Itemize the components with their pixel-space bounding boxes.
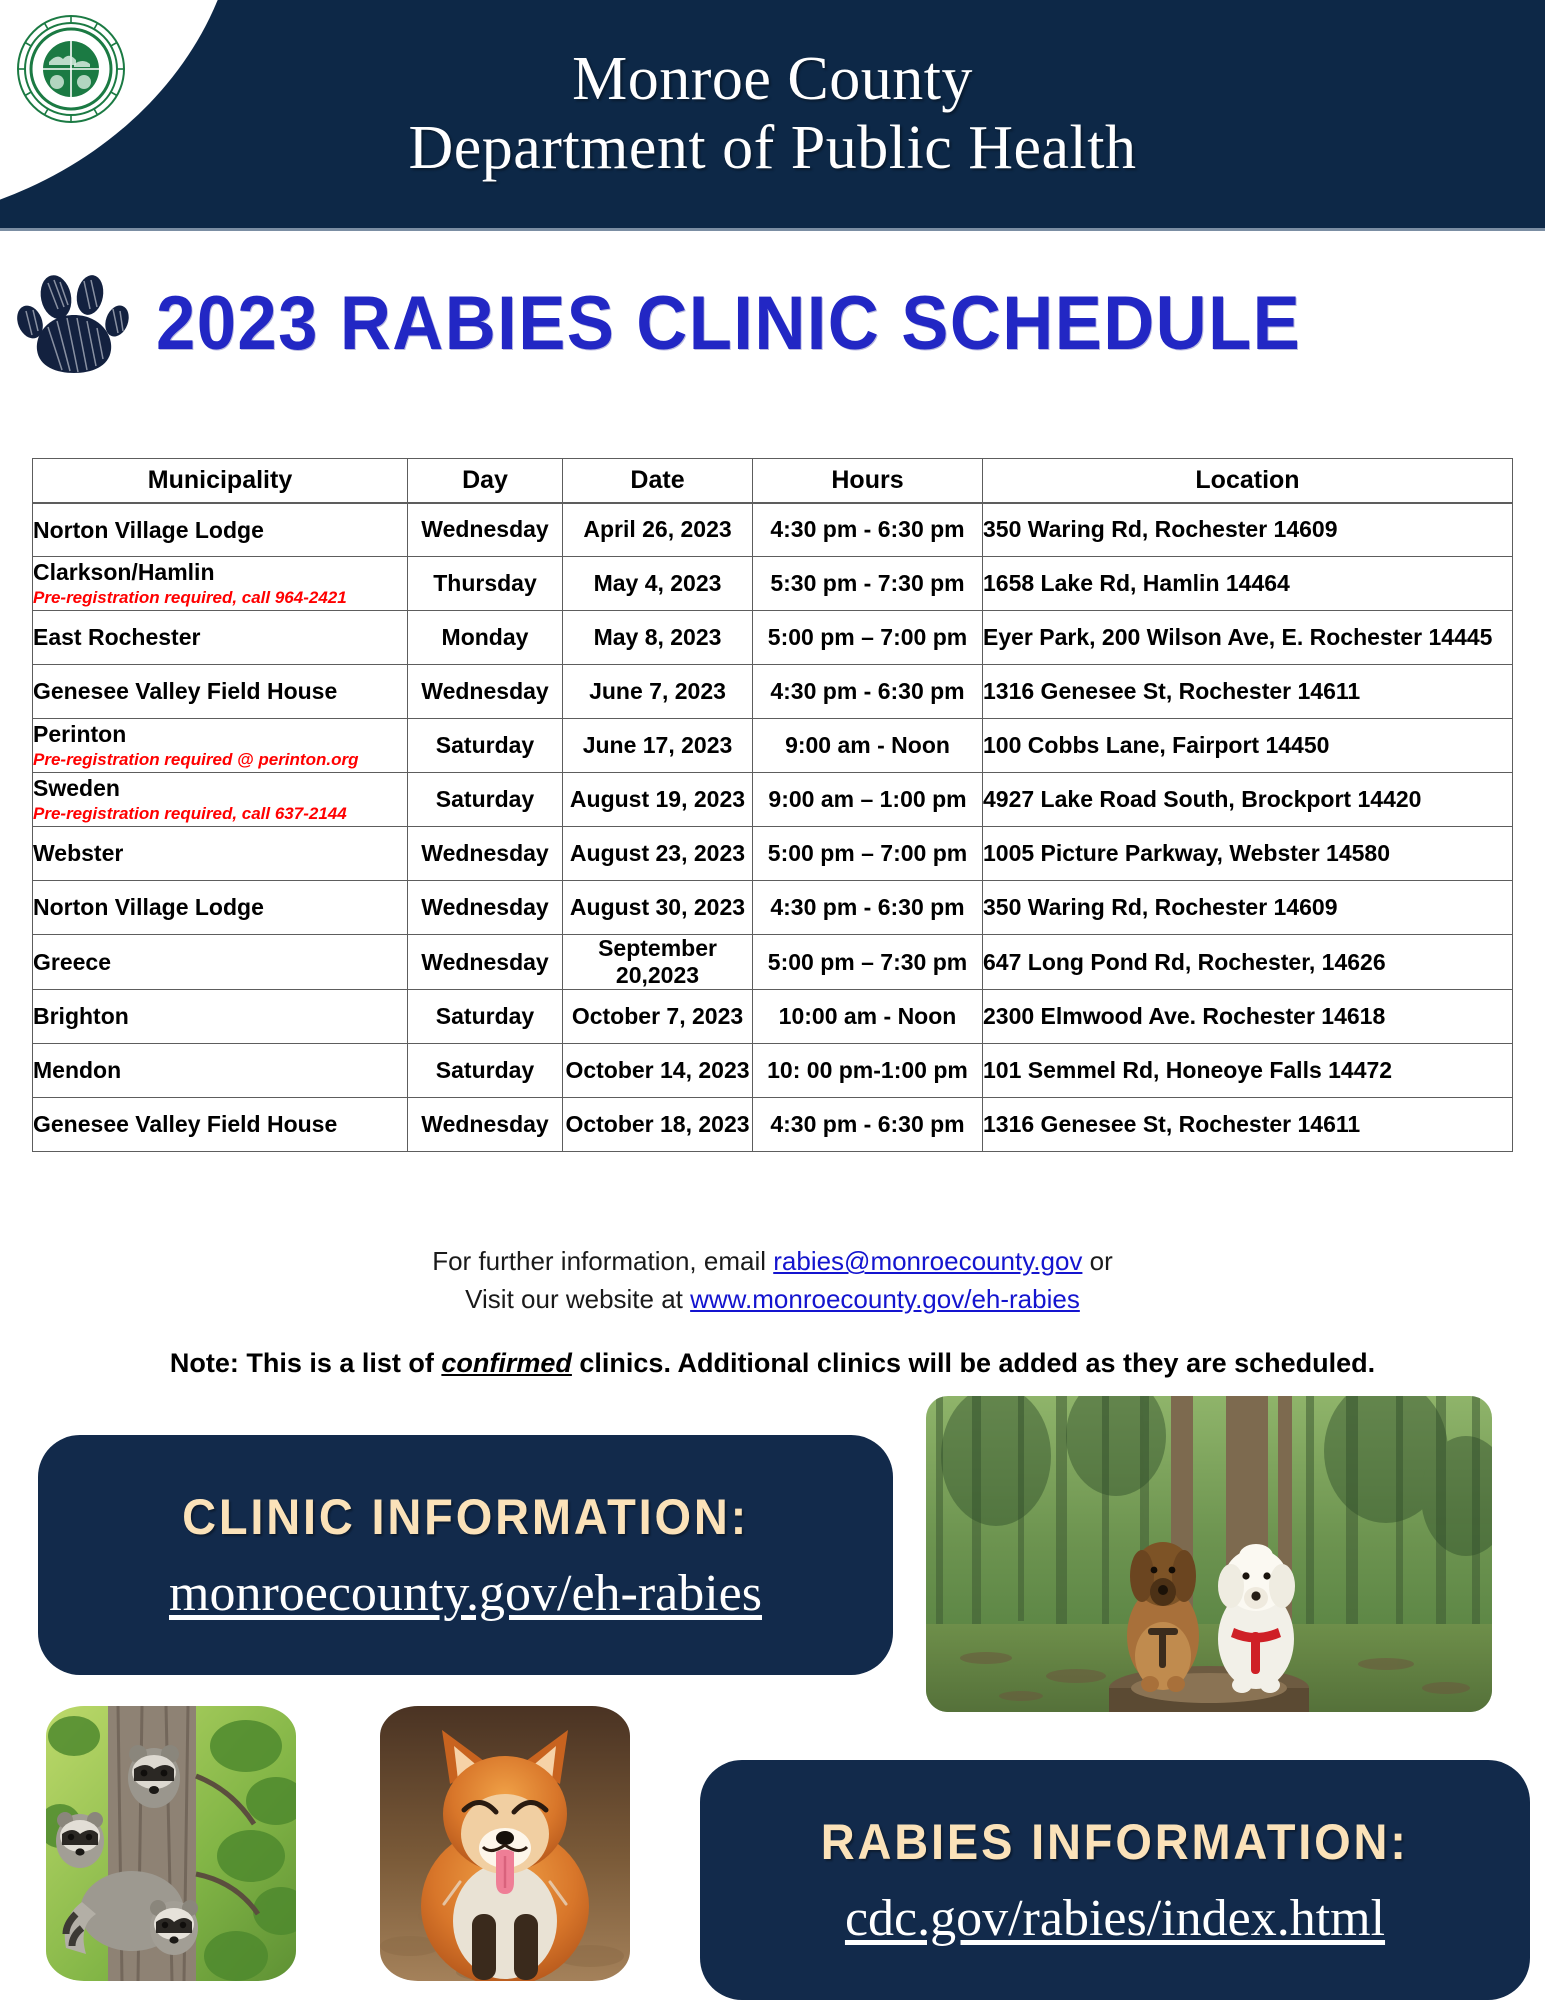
cell-location: 100 Cobbs Lane, Fairport 14450 <box>983 719 1513 773</box>
cell-hours: 9:00 am - Noon <box>753 719 983 773</box>
white-dog <box>1218 1544 1295 1693</box>
header-divider-rule <box>0 228 1545 231</box>
cell-date: September 20,2023 <box>563 935 753 990</box>
column-header-hours: Hours <box>753 459 983 503</box>
cell-day: Wednesday <box>408 1098 563 1152</box>
cell-hours: 4:30 pm - 6:30 pm <box>753 503 983 557</box>
table-row: Genesee Valley Field House Wednesday Jun… <box>33 665 1513 719</box>
cell-date: October 14, 2023 <box>563 1044 753 1098</box>
cell-location: 350 Waring Rd, Rochester 14609 <box>983 881 1513 935</box>
table-row: Webster Wednesday August 23, 2023 5:00 p… <box>33 827 1513 881</box>
table-row: East Rochester Monday May 8, 2023 5:00 p… <box>33 611 1513 665</box>
cell-location: 350 Waring Rd, Rochester 14609 <box>983 503 1513 557</box>
pre-registration-note: Pre-registration required, call 964-2421 <box>33 588 407 608</box>
cell-date: May 4, 2023 <box>563 557 753 611</box>
raccoons-photo <box>46 1706 296 1981</box>
cell-date: June 7, 2023 <box>563 665 753 719</box>
cell-hours: 9:00 am – 1:00 pm <box>753 773 983 827</box>
contact-website-prefix: Visit our website at <box>465 1284 690 1314</box>
cell-day: Thursday <box>408 557 563 611</box>
cell-day: Wednesday <box>408 665 563 719</box>
cell-municipality: Clarkson/Hamlin Pre-registration require… <box>33 557 408 611</box>
cell-location: 1658 Lake Rd, Hamlin 14464 <box>983 557 1513 611</box>
cell-hours: 10:00 am - Noon <box>753 990 983 1044</box>
red-fox-illustration <box>380 1706 630 1981</box>
cell-location: 2300 Elmwood Ave. Rochester 14618 <box>983 990 1513 1044</box>
table-row: Sweden Pre-registration required, call 6… <box>33 773 1513 827</box>
rabies-information-heading: RABIES INFORMATION: <box>821 1813 1409 1871</box>
table-row: Genesee Valley Field House Wednesday Oct… <box>33 1098 1513 1152</box>
raccoon-left <box>56 1812 104 1868</box>
contact-info-block: For further information, email rabies@mo… <box>0 1243 1545 1318</box>
note-prefix: Note: This is a list of <box>170 1348 442 1378</box>
contact-line-website: Visit our website at www.monroecounty.go… <box>0 1281 1545 1319</box>
table-row: Mendon Saturday October 14, 2023 10: 00 … <box>33 1044 1513 1098</box>
cell-hours: 5:00 pm – 7:00 pm <box>753 611 983 665</box>
rabies-information-box[interactable]: RABIES INFORMATION: cdc.gov/rabies/index… <box>700 1760 1530 2000</box>
cell-location: 101 Semmel Rd, Honeoye Falls 14472 <box>983 1044 1513 1098</box>
header-title-line2: Department of Public Health <box>408 117 1136 180</box>
page-header: Monroe County Department of Public Healt… <box>0 0 1545 228</box>
pre-registration-note: Pre-registration required @ perinton.org <box>33 750 407 770</box>
contact-email-prefix: For further information, email <box>432 1246 773 1276</box>
cell-location: 647 Long Pond Rd, Rochester, 14626 <box>983 935 1513 990</box>
table-row: Norton Village Lodge Wednesday August 30… <box>33 881 1513 935</box>
monroecounty-website-link[interactable]: www.monroecounty.gov/eh-rabies <box>690 1284 1080 1314</box>
cell-hours: 10: 00 pm-1:00 pm <box>753 1044 983 1098</box>
fox-photo <box>380 1706 630 1981</box>
cell-municipality: Genesee Valley Field House <box>33 665 408 719</box>
table-row: Clarkson/Hamlin Pre-registration require… <box>33 557 1513 611</box>
cell-hours: 5:30 pm - 7:30 pm <box>753 557 983 611</box>
table-row: Perinton Pre-registration required @ per… <box>33 719 1513 773</box>
cell-municipality: East Rochester <box>33 611 408 665</box>
column-header-day: Day <box>408 459 563 503</box>
rabies-email-link[interactable]: rabies@monroecounty.gov <box>773 1246 1082 1276</box>
cell-location: Eyer Park, 200 Wilson Ave, E. Rochester … <box>983 611 1513 665</box>
schedule-table-wrapper: Municipality Day Date Hours Location Nor… <box>32 458 1512 1152</box>
two-dogs-on-stump-illustration <box>926 1396 1492 1712</box>
cell-municipality: Norton Village Lodge <box>33 503 408 557</box>
confirmed-clinics-note: Note: This is a list of confirmed clinic… <box>0 1348 1545 1379</box>
note-suffix: clinics. Additional clinics will be adde… <box>572 1348 1375 1378</box>
cell-municipality: Sweden Pre-registration required, call 6… <box>33 773 408 827</box>
cell-date: April 26, 2023 <box>563 503 753 557</box>
contact-email-suffix: or <box>1082 1246 1112 1276</box>
table-header-row: Municipality Day Date Hours Location <box>33 459 1513 503</box>
cell-hours: 5:00 pm – 7:30 pm <box>753 935 983 990</box>
cell-hours: 4:30 pm - 6:30 pm <box>753 665 983 719</box>
cell-date: August 30, 2023 <box>563 881 753 935</box>
cell-day: Saturday <box>408 773 563 827</box>
poster-title: 2023 RABIES CLINIC SCHEDULE <box>156 280 1301 367</box>
clinic-information-box[interactable]: CLINIC INFORMATION: monroecounty.gov/eh-… <box>38 1435 893 1675</box>
cell-date: August 23, 2023 <box>563 827 753 881</box>
cell-location: 4927 Lake Road South, Brockport 14420 <box>983 773 1513 827</box>
contact-line-email: For further information, email rabies@mo… <box>0 1243 1545 1281</box>
cell-day: Saturday <box>408 719 563 773</box>
cell-date: October 7, 2023 <box>563 990 753 1044</box>
column-header-municipality: Municipality <box>33 459 408 503</box>
cell-municipality: Perinton Pre-registration required @ per… <box>33 719 408 773</box>
column-header-location: Location <box>983 459 1513 503</box>
table-row: Brighton Saturday October 7, 2023 10:00 … <box>33 990 1513 1044</box>
cell-municipality: Norton Village Lodge <box>33 881 408 935</box>
cell-day: Wednesday <box>408 827 563 881</box>
cell-location: 1316 Genesee St, Rochester 14611 <box>983 1098 1513 1152</box>
table-row: Norton Village Lodge Wednesday April 26,… <box>33 503 1513 557</box>
cell-municipality: Genesee Valley Field House <box>33 1098 408 1152</box>
cell-date: May 8, 2023 <box>563 611 753 665</box>
brown-dog <box>1127 1542 1199 1692</box>
pre-registration-note: Pre-registration required, call 637-2144 <box>33 804 407 824</box>
clinic-information-url[interactable]: monroecounty.gov/eh-rabies <box>169 1564 762 1623</box>
cell-location: 1316 Genesee St, Rochester 14611 <box>983 665 1513 719</box>
paw-print-icon <box>14 271 134 375</box>
cell-location: 1005 Picture Parkway, Webster 14580 <box>983 827 1513 881</box>
cell-day: Monday <box>408 611 563 665</box>
cell-date: October 18, 2023 <box>563 1098 753 1152</box>
clinic-information-heading: CLINIC INFORMATION: <box>182 1488 749 1546</box>
cell-hours: 4:30 pm - 6:30 pm <box>753 881 983 935</box>
table-row: Greece Wednesday September 20,2023 5:00 … <box>33 935 1513 990</box>
note-emphasis: confirmed <box>441 1348 572 1378</box>
cell-day: Saturday <box>408 1044 563 1098</box>
cell-municipality: Webster <box>33 827 408 881</box>
cell-day: Saturday <box>408 990 563 1044</box>
rabies-clinic-schedule-table: Municipality Day Date Hours Location Nor… <box>32 458 1513 1152</box>
cell-municipality: Brighton <box>33 990 408 1044</box>
poster-title-row: 2023 RABIES CLINIC SCHEDULE <box>0 268 1545 378</box>
cell-hours: 5:00 pm – 7:00 pm <box>753 827 983 881</box>
rabies-information-url[interactable]: cdc.gov/rabies/index.html <box>845 1889 1385 1948</box>
dogs-photo <box>926 1396 1492 1712</box>
schedule-table-body: Norton Village Lodge Wednesday April 26,… <box>33 503 1513 1152</box>
cell-municipality: Greece <box>33 935 408 990</box>
cell-day: Wednesday <box>408 881 563 935</box>
rabies-clinic-flyer: Monroe County Department of Public Healt… <box>0 0 1545 2000</box>
cell-municipality: Mendon <box>33 1044 408 1098</box>
header-title-line1: Monroe County <box>572 48 973 111</box>
cell-hours: 4:30 pm - 6:30 pm <box>753 1098 983 1152</box>
header-title-block: Monroe County Department of Public Healt… <box>0 0 1545 228</box>
raccoons-in-tree-illustration <box>46 1706 296 1981</box>
monroe-county-seal-icon <box>16 14 126 124</box>
raccoon-top <box>128 1745 180 1808</box>
column-header-date: Date <box>563 459 753 503</box>
cell-date: June 17, 2023 <box>563 719 753 773</box>
cell-day: Wednesday <box>408 503 563 557</box>
cell-day: Wednesday <box>408 935 563 990</box>
cell-date: August 19, 2023 <box>563 773 753 827</box>
